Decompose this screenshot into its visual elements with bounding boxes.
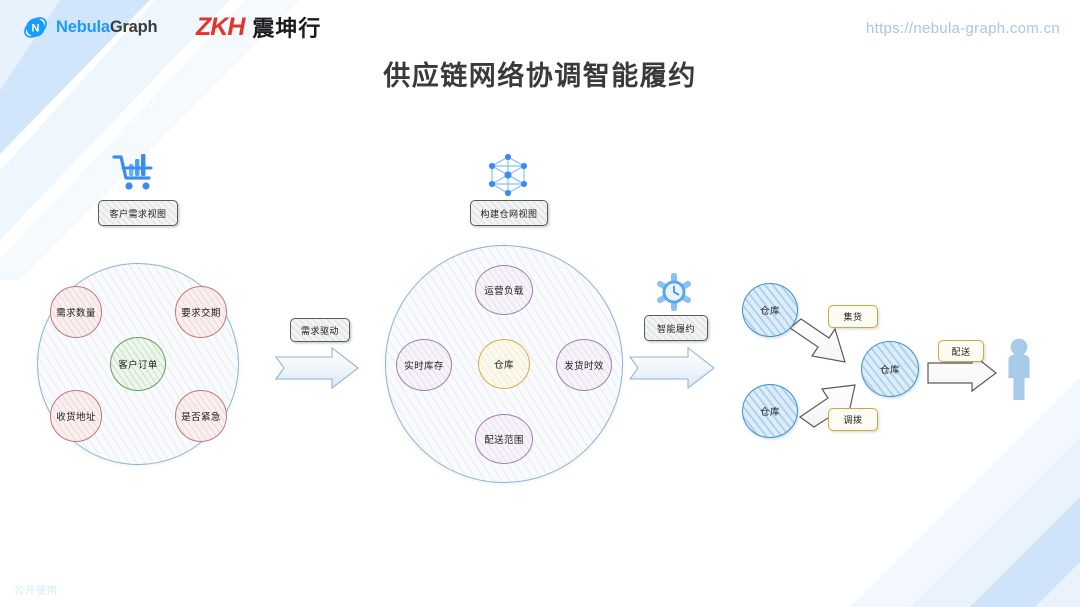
- block-arrow-2: [630, 348, 714, 388]
- slide-canvas: N NebulaGraph ZKH 震坤行 https://nebula-gra…: [0, 0, 1080, 607]
- nebulagraph-logo: N NebulaGraph: [22, 14, 157, 41]
- stage2-caption[interactable]: 构建仓网视图: [470, 200, 548, 226]
- stage1-caption[interactable]: 客户需求视图: [98, 200, 178, 226]
- nebula-word: Nebula: [56, 18, 110, 36]
- stage3-edge-label-transfer[interactable]: 调拨: [828, 408, 878, 431]
- person-icon: [1008, 339, 1029, 400]
- nebulagraph-wordmark: NebulaGraph: [56, 14, 157, 41]
- gear-clock-icon: [656, 273, 692, 311]
- zkh-wordmark-cn: 震坤行: [252, 17, 321, 40]
- stage2-center-node[interactable]: 仓库: [478, 339, 530, 389]
- stage1-satellite-0[interactable]: 需求数量: [50, 286, 102, 338]
- connector2-label[interactable]: 智能履约: [644, 315, 708, 341]
- decor-corner-bottom-right: [780, 347, 1080, 607]
- svg-text:N: N: [32, 23, 40, 35]
- stage1-satellite-2[interactable]: 收货地址: [50, 390, 102, 442]
- stage2-satellite-left[interactable]: 实时库存: [396, 339, 452, 391]
- page-title: 供应链网络协调智能履约: [0, 54, 1080, 93]
- graph-network-icon: [489, 154, 527, 196]
- stage1-satellite-3[interactable]: 是否紧急: [175, 390, 227, 442]
- stage3-delivery-label[interactable]: 配送: [938, 340, 984, 362]
- stage2-satellite-right[interactable]: 发货时效: [556, 339, 612, 391]
- block-arrow-1: [276, 348, 358, 388]
- stage2-satellite-top[interactable]: 运营负载: [475, 265, 533, 315]
- stage3-warehouse-bottom[interactable]: 仓库: [742, 384, 798, 438]
- zkh-wordmark-en: ZKH: [196, 15, 244, 40]
- stage1-satellite-1[interactable]: 要求交期: [175, 286, 227, 338]
- zkh-logo: ZKH 震坤行: [196, 15, 321, 40]
- stage2-satellite-bottom[interactable]: 配送范围: [475, 414, 533, 464]
- stage3-edge-label-consolidate[interactable]: 集货: [828, 305, 878, 328]
- site-url[interactable]: https://nebula-graph.com.cn: [866, 20, 1060, 37]
- confidentiality-footer: 公开使用: [14, 582, 58, 597]
- slide-header: N NebulaGraph ZKH 震坤行 https://nebula-gra…: [0, 0, 1080, 56]
- stage1-center-node[interactable]: 客户订单: [110, 337, 166, 391]
- connector1-label[interactable]: 需求驱动: [290, 318, 350, 342]
- stage3-warehouse-hub[interactable]: 仓库: [861, 341, 919, 397]
- graph-word: Graph: [110, 18, 158, 36]
- shopping-cart-icon: [114, 154, 151, 190]
- stage3-warehouse-top[interactable]: 仓库: [742, 283, 798, 337]
- nebula-orbit-icon: N: [22, 14, 49, 41]
